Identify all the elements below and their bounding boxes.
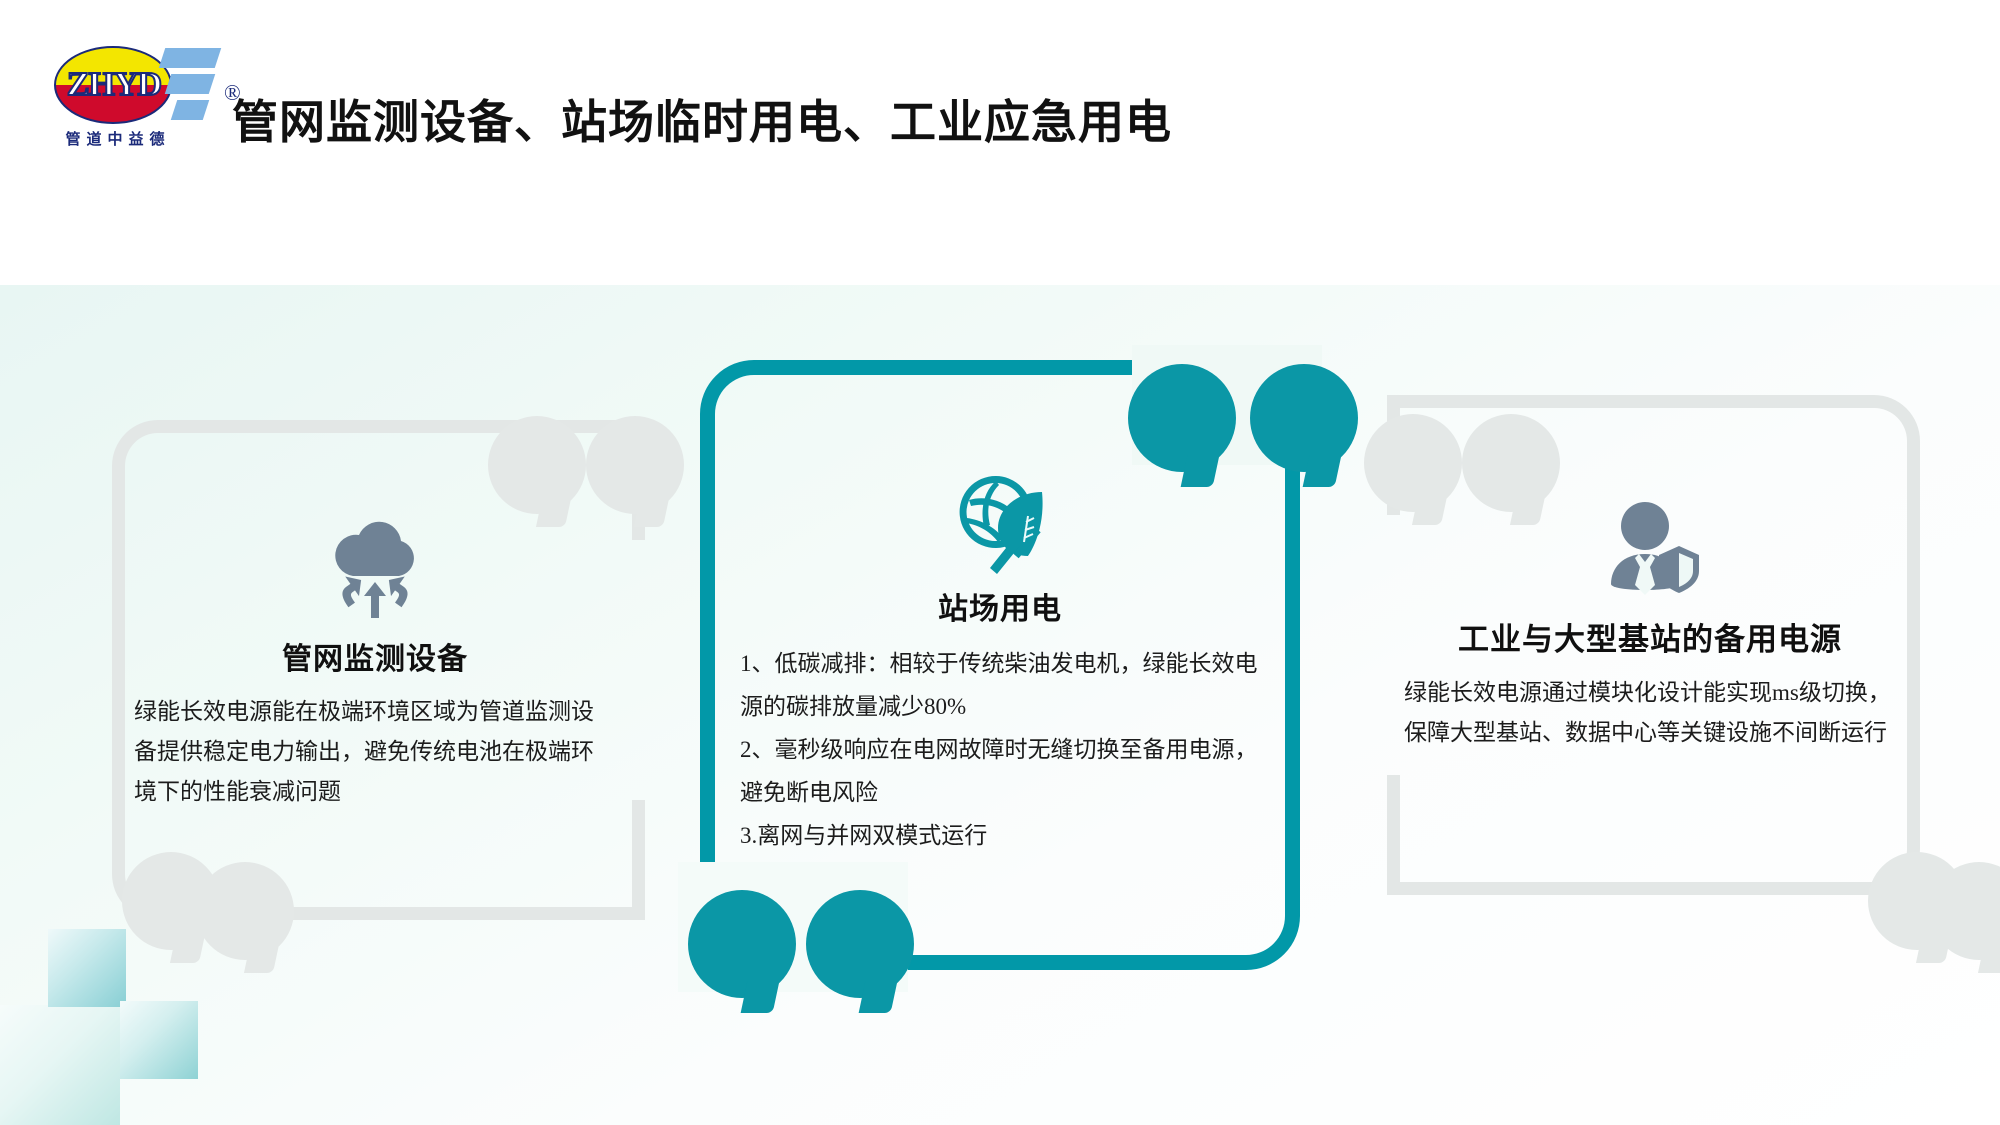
card-body-center: 1、低碳减排：相较于传统柴油发电机，绿能长效电源的碳排放量减少80% 2、毫秒级… [740,642,1260,857]
slide-header: ZHYD ® 管道中益德 管网监测设备、站场临时用电、工业应急用电 [0,0,2000,285]
globe-leaf-icon [740,470,1260,574]
card-title-right: 工业与大型基站的备用电源 [1400,614,1900,659]
quote-bubble-center-4 [806,890,914,998]
card-title-center: 站场用电 [740,584,1260,628]
quote-bubble-center-2 [1250,364,1358,472]
logo-chinese-name: 管道中益德 [48,128,188,149]
card-body-center-line-2: 2、毫秒级响应在电网故障时无缝切换至备用电源，避免断电风险 [740,728,1260,814]
decor-square-bottom-left-2 [48,929,126,1007]
person-shield-icon [1400,500,1900,604]
decor-square-bottom-left-1 [0,1005,120,1125]
page-title: 管网监测设备、站场临时用电、工业应急用电 [232,86,1172,152]
quote-bubble-right-1 [1364,414,1462,512]
card-title-left: 管网监测设备 [130,634,620,678]
quote-bubble-center-1 [1128,364,1236,472]
card-body-center-line-1: 1、低碳减排：相较于传统柴油发电机，绿能长效电源的碳排放量减少80% [740,642,1260,728]
card-body-right: 绿能长效电源通过模块化设计能实现ms级切换，保障大型基站、数据中心等关键设施不间… [1400,673,1900,753]
quote-bubble-left-1 [488,416,586,514]
card-pipeline-monitoring: 管网监测设备 绿能长效电源能在极端环境区域为管道监测设备提供稳定电力输出，避免传… [130,520,620,812]
card-body-left: 绿能长效电源能在极端环境区域为管道监测设备提供稳定电力输出，避免传统电池在极端环… [130,692,620,812]
quote-bubble-center-3 [688,890,796,998]
quote-bubble-left-2 [586,416,684,514]
logo-stripes-icon [156,48,218,124]
company-logo: ZHYD ® 管道中益德 [48,40,218,140]
card-industrial-backup: 工业与大型基站的备用电源 绿能长效电源通过模块化设计能实现ms级切换，保障大型基… [1400,500,1900,753]
cloud-upload-icon [130,520,620,624]
decor-square-bottom-left-3 [120,1001,198,1079]
logo-wordmark: ZHYD [58,68,170,102]
quote-bubble-left-4 [196,862,294,960]
card-body-center-line-3: 3.离网与并网双模式运行 [740,814,1260,857]
quote-bubble-right-2 [1462,414,1560,512]
slide-root: ZHYD ® 管道中益德 管网监测设备、站场临时用电、工业应急用电 [0,0,2000,1125]
card-station-power: 站场用电 1、低碳减排：相较于传统柴油发电机，绿能长效电源的碳排放量减少80% … [740,470,1260,857]
